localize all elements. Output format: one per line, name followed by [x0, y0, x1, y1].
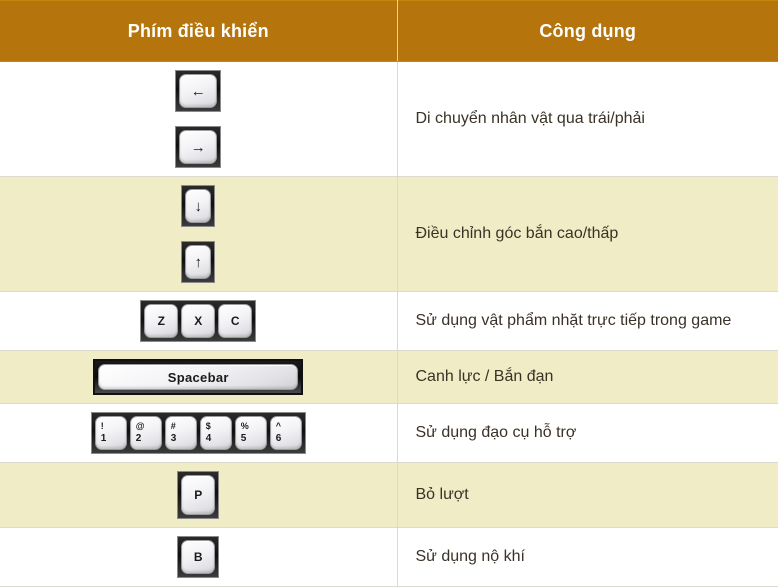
arrow-up-key-legend: ↑	[195, 255, 203, 270]
cell-control-keys: !1@2#3$4%5^6	[0, 404, 397, 463]
arrow-right-key[interactable]: →	[179, 130, 217, 164]
key-5-legend: 5	[241, 434, 247, 444]
key-2[interactable]: @2	[130, 416, 162, 450]
cell-control-keys: ZXC	[0, 292, 397, 351]
cell-usage-description: Canh lực / Bắn đạn	[397, 351, 778, 404]
key-z[interactable]: Z	[144, 304, 178, 338]
key-6[interactable]: ^6	[270, 416, 302, 450]
cell-control-keys: Spacebar	[0, 351, 397, 404]
key-spacebar-legend: Spacebar	[168, 371, 229, 384]
table-row: !1@2#3$4%5^6Sử dụng đạo cụ hỗ trợ	[0, 404, 778, 463]
arrow-left-key-legend: ←	[191, 84, 206, 99]
key-3-shift-legend: #	[171, 422, 176, 431]
key-b-legend: B	[194, 551, 203, 563]
key-2-shift-legend: @	[136, 422, 145, 431]
arrow-up-key[interactable]: ↑	[185, 245, 211, 279]
table-row: ↓↑Điều chỉnh góc bắn cao/thấp	[0, 177, 778, 292]
key-x-legend: X	[194, 315, 202, 327]
key-4-shift-legend: $	[206, 422, 211, 431]
cell-usage-description: Sử dụng nộ khí	[397, 528, 778, 587]
key-3-legend: 3	[171, 434, 177, 444]
key-1-legend: 1	[101, 434, 107, 444]
key-p[interactable]: P	[181, 475, 215, 515]
table-row: SpacebarCanh lực / Bắn đạn	[0, 351, 778, 404]
arrow-up-key-bezel[interactable]: ↑	[181, 241, 215, 283]
key-c-legend: C	[231, 315, 240, 327]
cell-usage-description: Di chuyển nhân vật qua trái/phải	[397, 62, 778, 177]
table-header: Phím điều khiển Công dụng	[0, 1, 778, 62]
cell-control-keys: ↓↑	[0, 177, 397, 292]
cell-usage-description: Điều chỉnh góc bắn cao/thấp	[397, 177, 778, 292]
table-row: ZXCSử dụng vật phẩm nhặt trực tiếp trong…	[0, 292, 778, 351]
key-4[interactable]: $4	[200, 416, 232, 450]
key-z-legend: Z	[158, 315, 165, 327]
arrow-down-key-bezel[interactable]: ↓	[181, 185, 215, 227]
key-group-bezel[interactable]: !1@2#3$4%5^6	[91, 412, 306, 454]
header-cell-keys: Phím điều khiển	[0, 1, 397, 62]
cell-control-keys: B	[0, 528, 397, 587]
arrow-down-key-legend: ↓	[195, 199, 203, 214]
key-1[interactable]: !1	[95, 416, 127, 450]
key-6-shift-legend: ^	[276, 422, 281, 431]
key-p-legend: P	[194, 489, 202, 501]
key-4-legend: 4	[206, 434, 212, 444]
arrow-down-key[interactable]: ↓	[185, 189, 211, 223]
key-spacebar-bezel[interactable]: Spacebar	[93, 359, 303, 395]
key-x[interactable]: X	[181, 304, 215, 338]
key-2-legend: 2	[136, 434, 142, 444]
key-c[interactable]: C	[218, 304, 252, 338]
key-group-bezel[interactable]: ZXC	[140, 300, 256, 342]
cell-usage-description: Sử dụng đạo cụ hỗ trợ	[397, 404, 778, 463]
key-p-bezel[interactable]: P	[177, 471, 219, 519]
cell-control-keys: P	[0, 463, 397, 528]
key-6-legend: 6	[276, 434, 282, 444]
key-b-bezel[interactable]: B	[177, 536, 219, 578]
arrow-right-key-legend: →	[191, 140, 206, 155]
key-3[interactable]: #3	[165, 416, 197, 450]
table-body: ←→Di chuyển nhân vật qua trái/phải↓↑Điều…	[0, 62, 778, 587]
table-row: ←→Di chuyển nhân vật qua trái/phải	[0, 62, 778, 177]
key-5-shift-legend: %	[241, 422, 249, 431]
cell-control-keys: ←→	[0, 62, 397, 177]
arrow-left-key[interactable]: ←	[179, 74, 217, 108]
cell-usage-description: Bỏ lượt	[397, 463, 778, 528]
arrow-left-key-bezel[interactable]: ←	[175, 70, 221, 112]
key-stack: ↓↑	[0, 185, 397, 283]
controls-table: Phím điều khiển Công dụng ←→Di chuyển nh…	[0, 0, 778, 587]
header-row: Phím điều khiển Công dụng	[0, 1, 778, 62]
key-5[interactable]: %5	[235, 416, 267, 450]
key-spacebar[interactable]: Spacebar	[98, 364, 298, 390]
table-row: PBỏ lượt	[0, 463, 778, 528]
key-1-shift-legend: !	[101, 422, 104, 431]
header-cell-usage: Công dụng	[397, 1, 778, 62]
cell-usage-description: Sử dụng vật phẩm nhặt trực tiếp trong ga…	[397, 292, 778, 351]
key-stack: ←→	[0, 70, 397, 168]
key-b[interactable]: B	[181, 540, 215, 574]
table-row: BSử dụng nộ khí	[0, 528, 778, 587]
arrow-right-key-bezel[interactable]: →	[175, 126, 221, 168]
